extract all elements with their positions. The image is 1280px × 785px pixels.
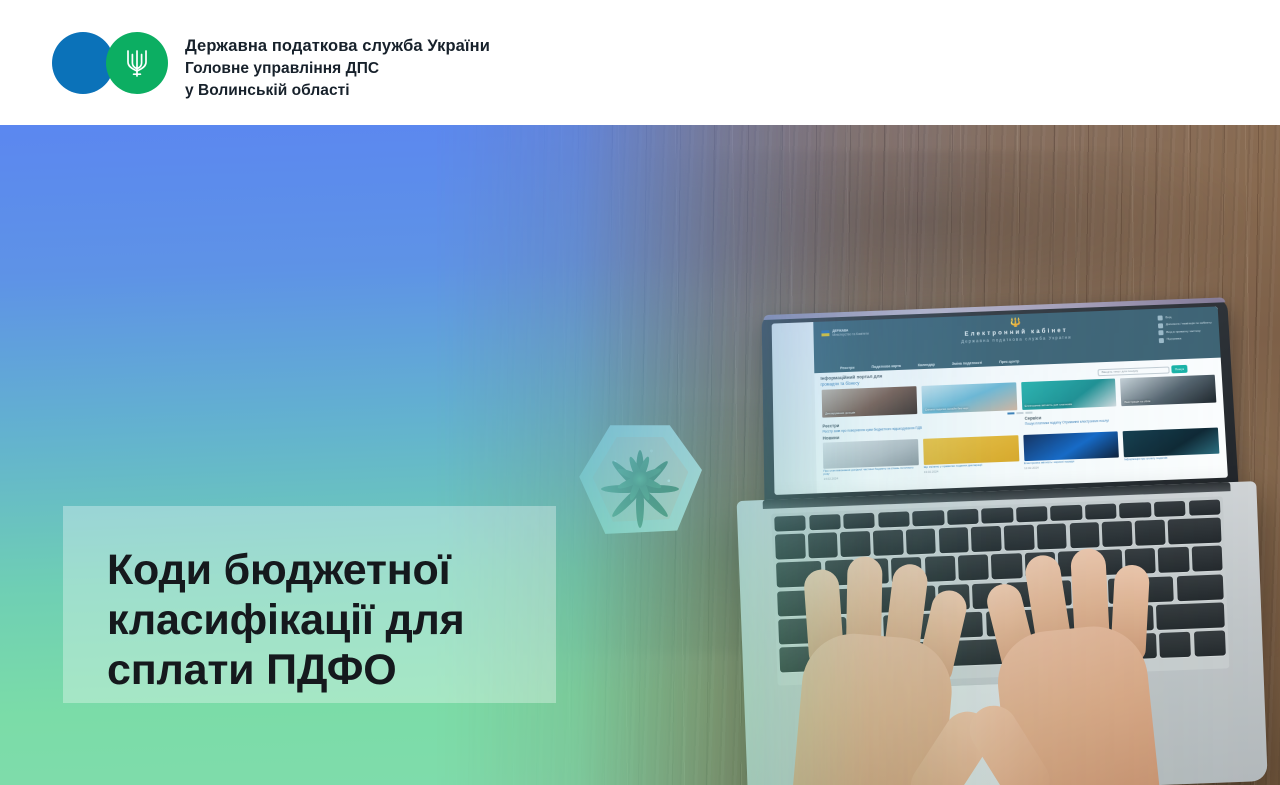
site-header: Державна податкова служба України Головн…: [0, 0, 1280, 125]
key-arrows[interactable]: [1194, 630, 1226, 656]
ek-search-input[interactable]: Введіть текст для пошуку: [1098, 366, 1170, 376]
key[interactable]: [912, 510, 944, 526]
ek-carousel-caption: Електронна звітність для платників: [1025, 401, 1114, 408]
laptop-lid: ДЕРЖАВА Міністерство та Комітети 🔱 Елект…: [762, 297, 1239, 504]
ek-news-item[interactable]: Електронна звітність: корисні поради 12.…: [1023, 431, 1120, 474]
ek-nav-item-tax-map[interactable]: Податкова карта: [871, 364, 901, 369]
ek-news-thumbnail: [1123, 427, 1220, 457]
ek-account-item[interactable]: Підтримка: [1159, 336, 1213, 343]
ek-account-menu[interactable]: Вхід Допомога / навігація по кабінету Вх…: [1157, 314, 1212, 343]
logo-blue-circle-icon: [52, 32, 114, 94]
ek-carousel-dot[interactable]: [1016, 412, 1023, 414]
key[interactable]: [1154, 501, 1186, 517]
screen-left-margin: [772, 322, 817, 495]
ek-website: ДЕРЖАВА Міністерство та Комітети 🔱 Елект…: [813, 306, 1228, 493]
key[interactable]: [1188, 499, 1220, 515]
key[interactable]: [1016, 506, 1048, 522]
key[interactable]: [1085, 503, 1117, 519]
left-hand: [786, 538, 994, 785]
ek-trident-icon: 🔱: [1010, 318, 1021, 327]
ek-account-label: Вхід: [1165, 316, 1171, 320]
gov-badge[interactable]: ДЕРЖАВА Міністерство та Комітети: [821, 328, 869, 338]
key[interactable]: [774, 515, 806, 531]
ek-nav-item-calendar[interactable]: Календар: [918, 363, 935, 368]
key-backspace[interactable]: [1167, 518, 1221, 545]
ek-account-item[interactable]: Вхід: [1157, 314, 1211, 321]
ukrainian-trident-icon: [106, 32, 168, 94]
ek-nav-item-press[interactable]: Прес-центр: [999, 359, 1019, 364]
page-root: Державна податкова служба України Головн…: [0, 0, 1280, 785]
key-return[interactable]: [1176, 574, 1223, 601]
laptop-screen: ДЕРЖАВА Міністерство та Комітети 🔱 Елект…: [772, 306, 1228, 495]
ek-carousel-caption: Декларування доходів: [825, 409, 914, 416]
plant-center: [632, 471, 648, 487]
lock-icon: [1158, 330, 1163, 335]
brand-text: Державна податкова служба України Головн…: [185, 32, 490, 101]
headline-line-1: Коди бюджетної: [107, 545, 537, 595]
ek-news-item[interactable]: Про стан виконання дохідної частини бюдж…: [823, 439, 919, 482]
ek-carousel-caption: Реєстрація та облік: [1124, 397, 1213, 404]
help-icon: [1158, 323, 1163, 328]
ek-carousel-dot[interactable]: [1007, 412, 1014, 414]
ek-search-button[interactable]: Пошук: [1171, 365, 1187, 374]
ek-account-label: Допомога / навігація по кабінету: [1166, 322, 1212, 327]
key[interactable]: [878, 511, 910, 527]
headline-line-2: класифікації для: [107, 595, 537, 645]
key[interactable]: [1050, 505, 1082, 521]
headline-line-3: сплати ПДФО: [107, 645, 537, 695]
ek-account-item[interactable]: Вхід в приватну частину: [1158, 328, 1212, 335]
org-name-department: Головне управління ДПС: [185, 58, 490, 79]
ek-carousel-caption: Сплати податки онлайн без черг: [925, 405, 1014, 412]
ek-nav-item-tax-change[interactable]: Зміна податності: [952, 361, 983, 366]
ek-title-block: Електронний кабінет Державна податкова с…: [961, 328, 1072, 344]
ek-carousel-card[interactable]: Електронна звітність для платників: [1021, 379, 1117, 410]
page-title: Коди бюджетної класифікації для сплати П…: [107, 545, 537, 695]
brand[interactable]: Державна податкова служба України Головн…: [52, 32, 490, 101]
dps-logo: [52, 32, 168, 94]
ek-account-label: Вхід в приватну частину: [1166, 329, 1201, 334]
right-hand: [983, 526, 1197, 785]
ek-carousel-dot[interactable]: [1025, 412, 1032, 414]
ek-news-thumbnail: [923, 435, 1019, 465]
key[interactable]: [843, 513, 875, 529]
org-name-region: у Волинській області: [185, 80, 490, 101]
gov-badge-subtitle: Міністерство та Комітети: [832, 332, 869, 337]
key[interactable]: [981, 507, 1013, 523]
succulent-plant: [578, 423, 702, 535]
key[interactable]: [1119, 502, 1151, 518]
ek-news-thumbnail: [1023, 431, 1119, 461]
key[interactable]: [947, 509, 979, 525]
support-icon: [1159, 338, 1164, 343]
ek-carousel-card[interactable]: Реєстрація та облік: [1120, 375, 1216, 406]
ek-account-label: Підтримка: [1167, 338, 1182, 342]
ek-carousel-card[interactable]: Сплати податки онлайн без черг: [921, 382, 1017, 413]
key[interactable]: [809, 514, 841, 530]
key[interactable]: [775, 534, 805, 560]
ek-carousel-card[interactable]: Декларування доходів: [822, 386, 917, 418]
wood-grain-upper: [0, 151, 1280, 323]
key[interactable]: [1191, 546, 1222, 572]
ek-nav-item-registers[interactable]: Реєстри: [840, 366, 854, 371]
org-name-primary: Державна податкова служба України: [185, 35, 490, 57]
ek-news-item[interactable]: Інформація про сплату податків: [1123, 427, 1220, 470]
hero-banner: ДЕРЖАВА Міністерство та Комітети 🔱 Елект…: [0, 125, 1280, 785]
user-icon: [1157, 315, 1162, 320]
ek-news-item[interactable]: Що змінено у правилах подання декларації…: [923, 435, 1020, 478]
ek-news-thumbnail: [823, 439, 919, 469]
ukraine-flag-icon: [821, 330, 829, 336]
ek-account-item[interactable]: Допомога / навігація по кабінету: [1158, 321, 1212, 328]
